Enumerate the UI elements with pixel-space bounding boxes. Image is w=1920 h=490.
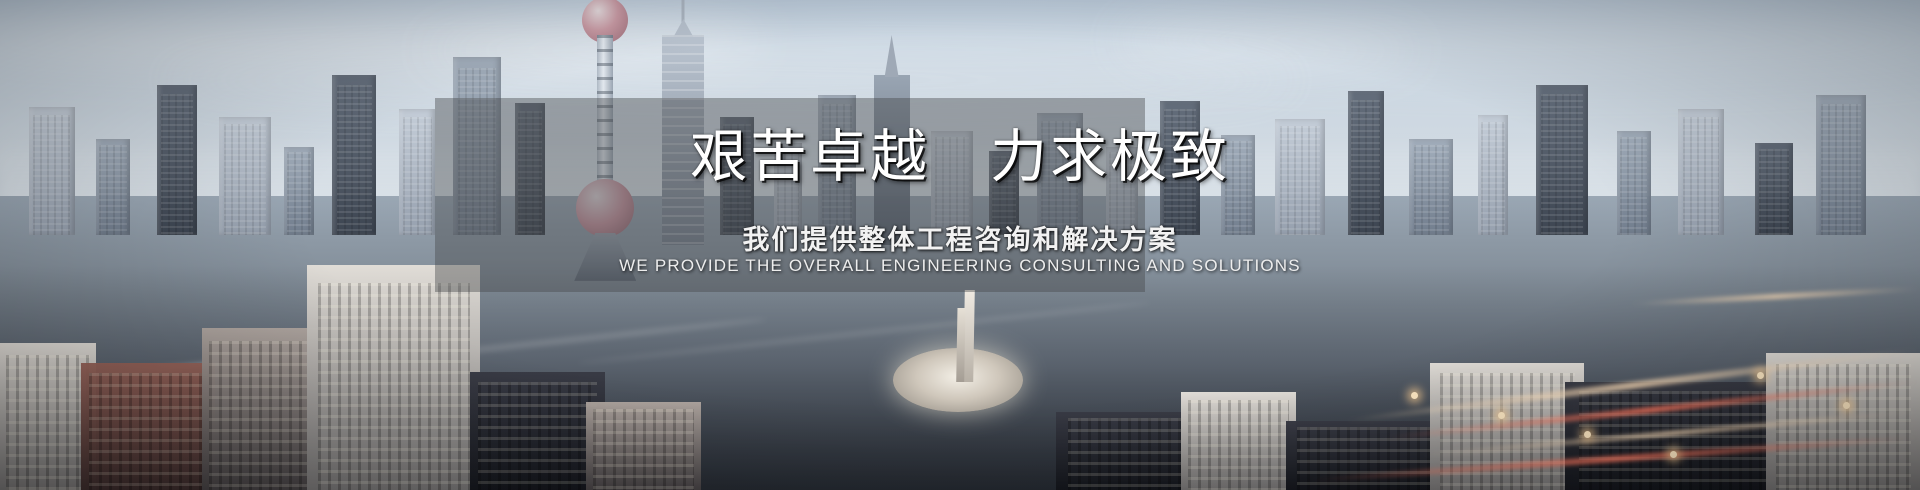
tower-cap	[673, 19, 693, 37]
foreground-building	[586, 402, 701, 490]
foreground-building	[202, 328, 317, 490]
banner-subtitle-english: WE PROVIDE THE OVERALL ENGINEERING CONSU…	[0, 256, 1920, 276]
foreground-building	[1181, 392, 1296, 490]
street-lamp	[1843, 402, 1850, 409]
hero-banner: 艰苦卓越 力求极致 我们提供整体工程咨询和解决方案 WE PROVIDE THE…	[0, 0, 1920, 490]
tower-tip	[885, 35, 899, 77]
street-lamp	[1498, 412, 1505, 419]
monument-obelisk	[963, 290, 975, 382]
foreground-building	[307, 265, 480, 490]
banner-headline: 艰苦卓越 力求极致	[0, 128, 1920, 188]
banner-subtitle-chinese: 我们提供整体工程咨询和解决方案	[0, 218, 1920, 257]
foreground-building	[81, 363, 215, 490]
